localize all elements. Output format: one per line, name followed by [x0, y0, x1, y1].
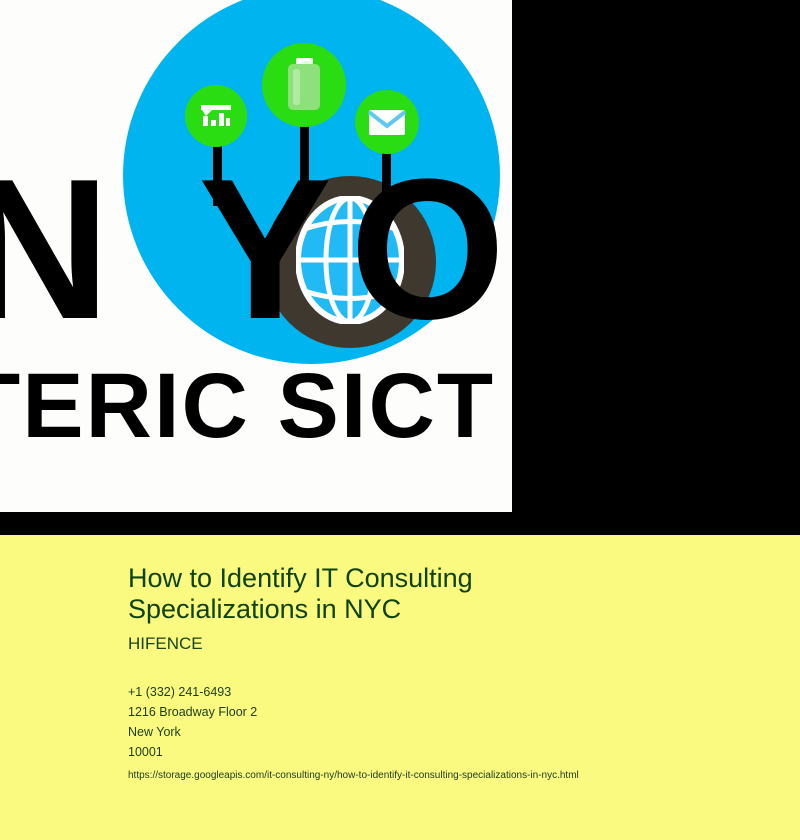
page-title: How to Identify IT Consulting Specializa… — [128, 563, 558, 625]
connector-stalk-left — [213, 140, 222, 206]
contact-phone[interactable]: +1 (332) 241-6493 — [128, 682, 760, 702]
battery-icon — [262, 43, 346, 127]
envelope-icon — [355, 90, 419, 154]
contact-city: New York — [128, 722, 760, 742]
connector-stalk-middle — [300, 126, 309, 194]
contact-zip: 10001 — [128, 742, 760, 762]
headline-letters-row2: TERIC SICT — [0, 360, 512, 452]
connector-stalk-right — [382, 148, 391, 206]
hero-banner: N YO — [0, 0, 800, 535]
info-card: How to Identify IT Consulting Specializa… — [0, 535, 800, 840]
brand-name: HIFENCE — [128, 633, 760, 655]
headline-letters-row1: N YO — [0, 150, 512, 350]
contact-street: 1216 Broadway Floor 2 — [128, 702, 760, 722]
page-root: N YO — [0, 0, 800, 840]
artwork-panel: N YO — [0, 0, 512, 512]
contact-block: +1 (332) 241-6493 1216 Broadway Floor 2 … — [128, 682, 760, 762]
bar-chart-icon — [185, 85, 247, 147]
info-card-content: How to Identify IT Consulting Specializa… — [128, 563, 760, 783]
source-url[interactable]: https://storage.googleapis.com/it-consul… — [128, 769, 760, 783]
